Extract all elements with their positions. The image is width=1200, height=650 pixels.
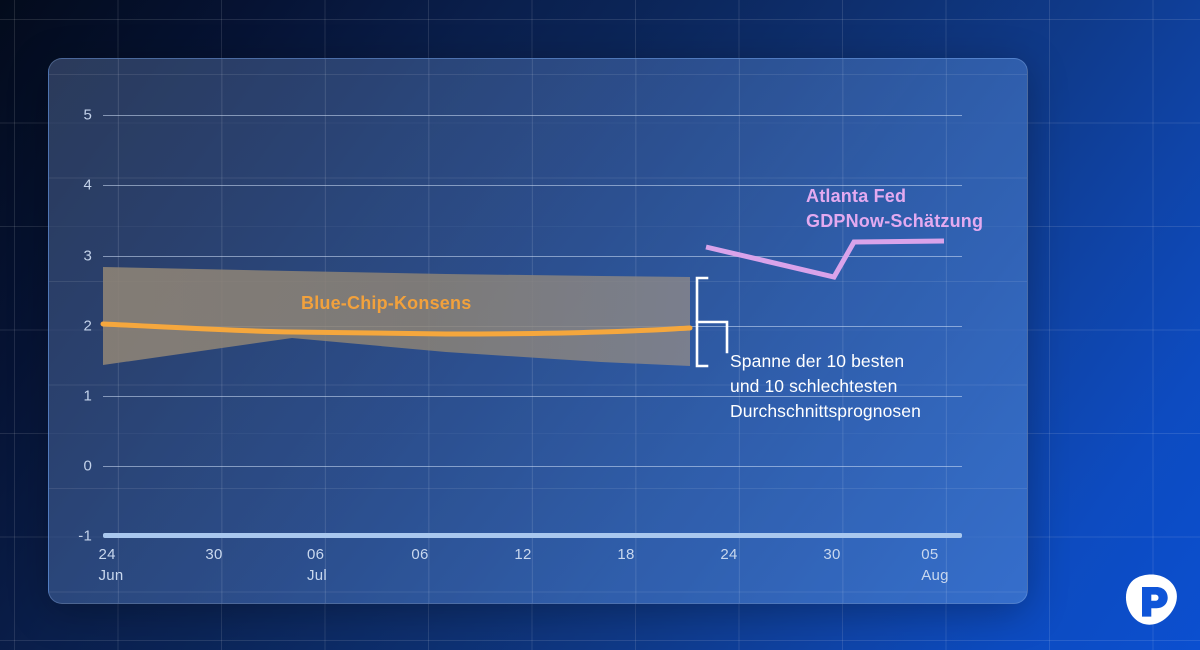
consensus-series-label: Blue-Chip-Konsens [301,293,471,314]
fed-series-label-line1: Atlanta Fed [806,184,983,209]
range-bracket-group [0,0,1200,650]
x-tick-4-day: 12 [514,546,531,563]
fed-series-label: Atlanta Fed GDPNow-Schätzung [806,184,983,234]
chart-screenshot: 5 4 3 2 1 0 -1 [0,0,1200,650]
x-tick-7-day: 30 [823,546,840,563]
x-tick-5-day: 18 [617,546,634,563]
range-annotation: Spanne der 10 besten und 10 schlechteste… [730,349,921,424]
x-tick-2: 06 Jul [307,546,327,584]
fed-series-label-line2: GDPNow-Schätzung [806,209,983,234]
x-tick-8: 05 Aug [921,546,949,584]
x-tick-3: 06 [411,546,428,567]
range-annotation-line3: Durchschnittsprognosen [730,399,921,424]
x-tick-1-day: 30 [205,546,222,563]
x-tick-2-day: 06 [307,546,327,563]
x-tick-8-month: Aug [921,567,949,584]
x-tick-5: 18 [617,546,634,567]
x-tick-0-month: Jun [98,567,123,584]
x-tick-8-day: 05 [921,546,949,563]
plot-area: 5 4 3 2 1 0 -1 [0,0,1200,650]
pepperstone-logo [1120,569,1182,631]
range-bracket-leader [697,322,727,352]
x-tick-6-day: 24 [720,546,737,563]
x-tick-7: 30 [823,546,840,567]
x-tick-4: 12 [514,546,531,567]
x-tick-2-month: Jul [307,567,327,584]
logo-shape [1126,575,1177,625]
range-annotation-line2: und 10 schlechtesten [730,374,921,399]
x-tick-1: 30 [205,546,222,567]
x-tick-0-day: 24 [98,546,123,563]
x-tick-6: 24 [720,546,737,567]
x-tick-3-day: 06 [411,546,428,563]
range-annotation-line1: Spanne der 10 besten [730,349,921,374]
x-tick-0: 24 Jun [98,546,123,584]
